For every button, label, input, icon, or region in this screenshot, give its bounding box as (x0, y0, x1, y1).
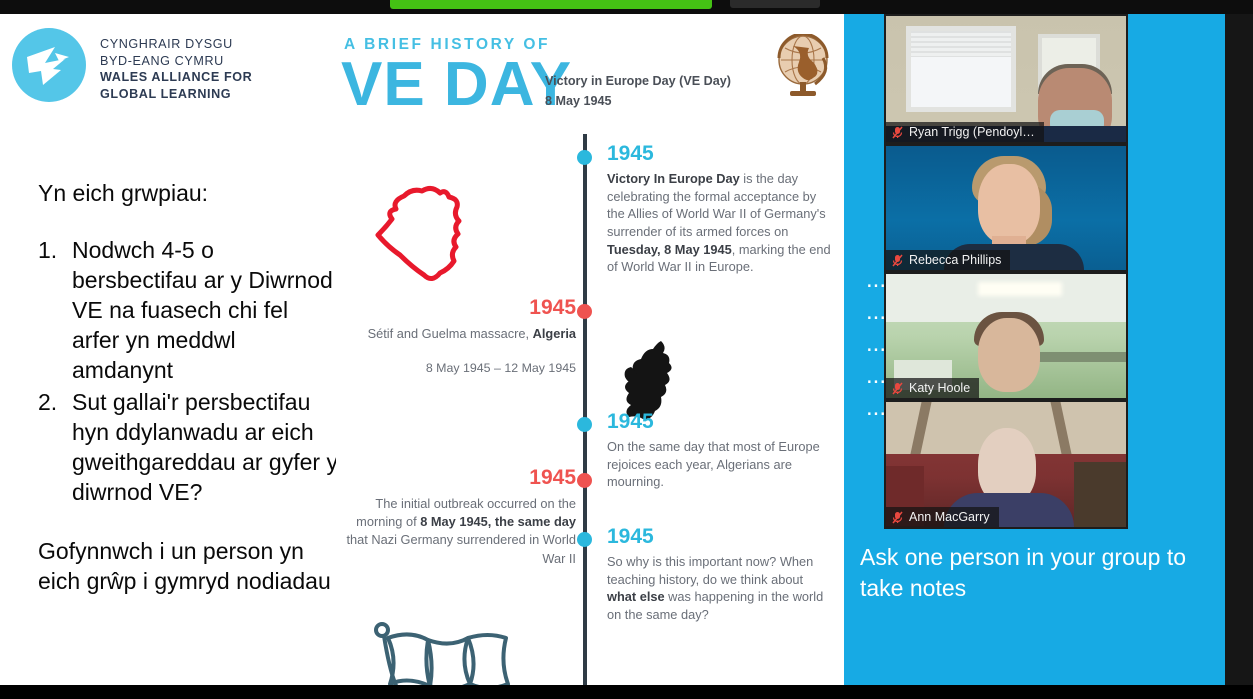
dove-logo-icon (12, 28, 86, 102)
timeline-entry: 1945 Sétif and Guelma massacre, Algeria … (344, 296, 576, 375)
mic-muted-icon (892, 511, 903, 524)
participant-tile[interactable]: Ryan Trigg (Pendoyl… (884, 14, 1128, 144)
welsh-closing: Gofynnwch i un person yn eich grŵp i gym… (38, 537, 338, 597)
timeline-body: The initial outbreak occurred on the mor… (344, 495, 576, 568)
welsh-instructions: Yn eich grwpiau: 1. Nodwch 4-5 o bersbec… (38, 179, 338, 597)
timeline-dot-blue (577, 532, 592, 547)
infographic-subtitle-line-2: 8 May 1945 (545, 92, 731, 112)
infographic-title: VE DAY (341, 54, 572, 116)
mic-muted-icon (892, 126, 903, 139)
participant-nameplate: Rebecca Phillips (886, 250, 1010, 270)
list-number: 1. (38, 236, 57, 266)
zoom-meeting-screen: CYNGHRAIR DYSGU BYD-EANG CYMRU WALES ALL… (0, 0, 1253, 699)
timeline-entry: 1945 Victory In Europe Day is the day ce… (607, 142, 835, 276)
welsh-intro: Yn eich grwpiau: (38, 179, 338, 208)
timeline-year: 1945 (344, 466, 576, 489)
ve-day-infographic: A BRIEF HISTORY OF VE DAY Victory in Eur… (336, 14, 844, 685)
participant-name: Rebecca Phillips (909, 253, 1001, 267)
participant-nameplate: Ann MacGarry (886, 507, 999, 527)
logo-line-3: WALES ALLIANCE FOR (100, 69, 252, 86)
participant-name: Ryan Trigg (Pendoyl… (909, 125, 1035, 139)
waving-flag-icon (372, 622, 520, 685)
timeline-body: Victory In Europe Day is the day celebra… (607, 170, 835, 276)
organisation-name: CYNGHRAIR DYSGU BYD-EANG CYMRU WALES ALL… (100, 28, 252, 102)
participant-name: Katy Hoole (909, 381, 970, 395)
participant-name: Ann MacGarry (909, 510, 990, 524)
screen-share-toolbar (0, 0, 1253, 14)
mic-muted-icon (892, 382, 903, 395)
infographic-subtitle: Victory in Europe Day (VE Day) 8 May 194… (545, 72, 731, 111)
logo-line-1: CYNGHRAIR DYSGU (100, 36, 252, 53)
globe-icon (771, 34, 835, 100)
bottom-letterbox-bar (0, 685, 1253, 699)
timeline-entry: 1945 So why is this important now? When … (607, 525, 835, 624)
participant-filmstrip: Ryan Trigg (Pendoyl… Rebecca Phillips (884, 14, 1128, 529)
timeline-dot-blue (577, 417, 592, 432)
list-item: 1. Nodwch 4-5 o bersbectifau ar y Diwrno… (38, 236, 338, 385)
logo-line-2: BYD-EANG CYMRU (100, 53, 252, 70)
participant-tile[interactable]: Rebecca Phillips (884, 144, 1128, 272)
timeline-entry: 1945 On the same day that most of Europe… (607, 410, 835, 491)
participant-tile[interactable]: Ann MacGarry (884, 400, 1128, 529)
list-item: 2. Sut gallai'r persbectifau hyn ddylanw… (38, 388, 338, 508)
screen-share-controls[interactable] (730, 0, 820, 8)
timeline-year: 1945 (607, 410, 835, 433)
screen-share-active-indicator (390, 0, 712, 9)
timeline-body: On the same day that most of Europe rejo… (607, 438, 835, 491)
timeline-body: So why is this important now? When teach… (607, 553, 835, 624)
timeline-dot-red (577, 473, 592, 488)
timeline-dates: 8 May 1945 – 12 May 1945 (344, 361, 576, 375)
timeline-entry: 1945 The initial outbreak occurred on th… (344, 466, 576, 568)
timeline-dot-red (577, 304, 592, 319)
list-text: Sut gallai'r persbectifau hyn ddylanwadu… (72, 389, 338, 505)
participant-nameplate: Ryan Trigg (Pendoyl… (886, 122, 1044, 142)
welsh-task-list: 1. Nodwch 4-5 o bersbectifau ar y Diwrno… (38, 236, 338, 507)
timeline-year: 1945 (607, 142, 835, 165)
timeline-body: Sétif and Guelma massacre, Algeria (344, 325, 576, 343)
participant-tile[interactable]: Katy Hoole (884, 272, 1128, 400)
timeline-year: 1945 (344, 296, 576, 319)
timeline-dot-blue (577, 150, 592, 165)
right-letterbox-rail (1225, 14, 1253, 685)
organisation-logo: CYNGHRAIR DYSGU BYD-EANG CYMRU WALES ALL… (12, 28, 252, 102)
list-text: Nodwch 4-5 o bersbectifau ar y Diwrnod V… (72, 237, 333, 383)
mic-muted-icon (892, 254, 903, 267)
list-number: 2. (38, 388, 57, 418)
timeline-spine (583, 134, 587, 685)
slide-left-column: CYNGHRAIR DYSGU BYD-EANG CYMRU WALES ALL… (0, 14, 336, 685)
participant-nameplate: Katy Hoole (886, 378, 979, 398)
take-notes-instruction: Ask one person in your group to take not… (860, 542, 1208, 603)
algeria-map-outline-icon (364, 174, 514, 299)
logo-line-4: GLOBAL LEARNING (100, 86, 252, 103)
timeline-year: 1945 (607, 525, 835, 548)
infographic-subtitle-line-1: Victory in Europe Day (VE Day) (545, 72, 731, 92)
